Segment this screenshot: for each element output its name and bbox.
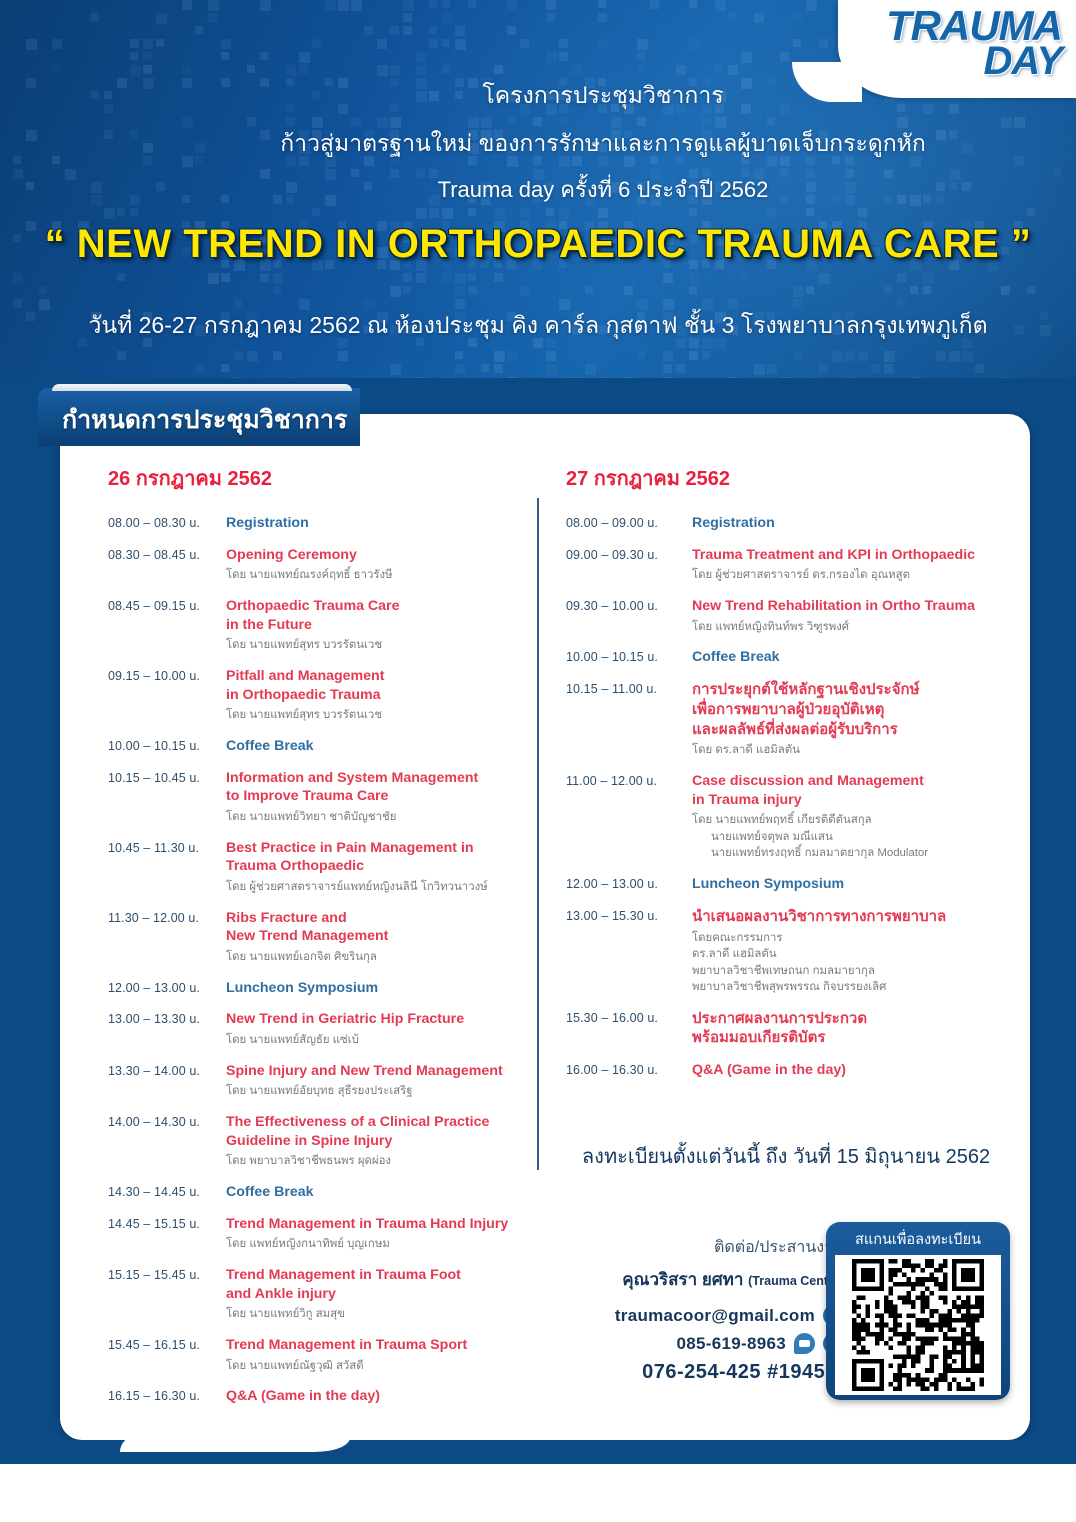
speaker-line: โดย นายแพทย์ณรงค์ฤทธิ์ ธาวรังษี [226, 567, 528, 584]
schedule-topic: Ribs Fracture andNew Trend Management [226, 909, 528, 946]
schedule-time: 09.30 – 10.00 u. [566, 597, 692, 635]
schedule-detail: Case discussion and Managementin Trauma … [692, 772, 1006, 862]
schedule-topic: Trend Management in Trauma Hand Injury [226, 1215, 528, 1234]
schedule-time: 10.45 – 11.30 u. [108, 839, 226, 896]
contact-email-row[interactable]: traumacoor@gmail.com [596, 1305, 844, 1326]
schedule-speaker: โดย นายแพทย์สัญธัย แซ่เบ้ [226, 1032, 528, 1049]
schedule-topic: Registration [692, 514, 1006, 533]
contact-block: ติดต่อ/ประสานงาน คุณวริสรา ยศทา (Trauma … [596, 1235, 844, 1384]
schedule-detail: การประยุกต์ใช้หลักฐานเชิงประจักษ์เพื่อกา… [692, 680, 1006, 759]
schedule-time: 09.15 – 10.00 u. [108, 667, 226, 724]
schedule-detail: Opening Ceremonyโดย นายแพทย์ณรงค์ฤทธิ์ ธ… [226, 546, 528, 584]
schedule-speaker: โดย นายแพทย์อัยบุทธ สุธีรยงประเสริฐ [226, 1083, 528, 1100]
schedule-time: 15.30 – 16.00 u. [566, 1009, 692, 1049]
speaker-line: โดย นายแพทย์อัยบุทธ สุธีรยงประเสริฐ [226, 1083, 528, 1100]
schedule-time: 10.00 – 10.15 u. [108, 737, 226, 756]
schedule-speaker: โดย นายแพทย์เอกจิต ศิขรินกุล [226, 949, 528, 966]
schedule-column-day2: 27 กรกฎาคม 2562 08.00 – 09.00 u.Registra… [566, 462, 1006, 1093]
schedule-speaker: โดย นายแพทย์พฤทธิ์ เกียรติดีตันสกุล นายแ… [692, 812, 1006, 862]
schedule-row: 14.00 – 14.30 u.The Effectiveness of a C… [108, 1113, 528, 1170]
schedule-topic: นำเสนอผลงานวิชาการทางการพยาบาล [692, 907, 1006, 927]
qr-registration-box[interactable]: สแกนเพื่อลงทะเบียน [826, 1222, 1010, 1400]
schedule-speaker: โดย แพทย์หญิงกนาทิพย์ บุญเกษม [226, 1236, 528, 1253]
schedule-row: 10.00 – 10.15 u.Coffee Break [108, 737, 528, 756]
schedule-topic: New Trend in Geriatric Hip Fracture [226, 1010, 528, 1029]
schedule-row: 13.00 – 15.30 u.นำเสนอผลงานวิชาการทางการ… [566, 907, 1006, 996]
schedule-speaker: โดย นายแพทย์วิกู สมสุข [226, 1306, 528, 1323]
speaker-line: โดย ผู้ช่วยศาสตราจารย์แพทย์หญิงนลินี โกว… [226, 879, 528, 896]
schedule-speaker: โดย นายแพทย์ณรงค์ฤทธิ์ ธาวรังษี [226, 567, 528, 584]
schedule-topic: Q&A (Game in the day) [692, 1061, 1006, 1080]
qr-caption: สแกนเพื่อลงทะเบียน [835, 1228, 1001, 1251]
schedule-topic: Coffee Break [692, 648, 1006, 667]
speaker-line: โดย นายแพทย์ณัฐวุฒิ สวัสดี [226, 1358, 528, 1375]
schedule-speaker: โดย ดร.ลาดี แฮมิลตัน [692, 742, 1006, 759]
speaker-line: โดย ดร.ลาดี แฮมิลตัน [692, 742, 1006, 759]
column-divider [537, 498, 539, 1170]
schedule-topic: Trend Management in Trauma Sport [226, 1336, 528, 1355]
speaker-line: โดย แพทย์หญิงทินท์พร วิฑูรพงศ์ [692, 619, 1006, 636]
day2-date-heading: 27 กรกฎาคม 2562 [566, 462, 1006, 494]
schedule-topic: การประยุกต์ใช้หลักฐานเชิงประจักษ์เพื่อกา… [692, 680, 1006, 739]
schedule-row: 09.15 – 10.00 u.Pitfall and Managementin… [108, 667, 528, 724]
schedule-time: 10.15 – 10.45 u. [108, 769, 226, 826]
contact-phone-row[interactable]: 085-619-8963 [596, 1333, 844, 1354]
schedule-topic: Best Practice in Pain Management inTraum… [226, 839, 528, 876]
schedule-topic: Luncheon Symposium [226, 979, 528, 998]
schedule-speaker: โดย แพทย์หญิงทินท์พร วิฑูรพงศ์ [692, 619, 1006, 636]
schedule-topic: ประกาศผลงานการประกวดพร้อมมอบเกียรติบัตร [692, 1009, 1006, 1049]
speaker-line: โดย นายแพทย์สัญธัย แซ่เบ้ [226, 1032, 528, 1049]
qr-code-image[interactable] [835, 1255, 1001, 1395]
schedule-row: 10.15 – 10.45 u.Information and System M… [108, 769, 528, 826]
schedule-ribbon-label: กำหนดการประชุมวิชาการ [62, 400, 347, 440]
speaker-line: นายแพทย์จตุพล มณีแสน [692, 829, 1006, 846]
schedule-speaker: โดยคณะกรรมการดร.ลาดี แฮมิลตันพยาบาลวิชาช… [692, 930, 1006, 996]
speaker-line: โดย ผู้ช่วยศาสตราจารย์ ดร.กรองได อุณหสูต [692, 567, 1006, 584]
schedule-detail: Coffee Break [226, 1183, 528, 1202]
schedule-time: 08.00 – 09.00 u. [566, 514, 692, 533]
schedule-row: 10.15 – 11.00 u.การประยุกต์ใช้หลักฐานเชิ… [566, 680, 1006, 759]
schedule-topic: Spine Injury and New Trend Management [226, 1062, 528, 1081]
contact-phone-1[interactable]: 085-619-8963 [677, 1334, 786, 1354]
contact-person-name: คุณวริสรา ยศทา [622, 1270, 743, 1289]
schedule-row: 16.00 – 16.30 u.Q&A (Game in the day) [566, 1061, 1006, 1080]
header-subtitle-3: Trauma day ครั้งที่ 6 ประจำปี 2562 [130, 172, 1076, 207]
day1-rows: 08.00 – 08.30 u.Registration08.30 – 08.4… [108, 514, 528, 1406]
schedule-topic: Trauma Treatment and KPI in Orthopaedic [692, 546, 1006, 565]
poster-header: TRAUMA DAY โครงการประชุมวิชาการ ก้าวสู่ม… [0, 0, 1076, 378]
schedule-topic: Coffee Break [226, 1183, 528, 1202]
schedule-detail: Best Practice in Pain Management inTraum… [226, 839, 528, 896]
schedule-topic: Coffee Break [226, 737, 528, 756]
schedule-row: 15.45 – 16.15 u.Trend Management in Trau… [108, 1336, 528, 1374]
schedule-detail: Ribs Fracture andNew Trend Managementโดย… [226, 909, 528, 966]
schedule-time: 14.30 – 14.45 u. [108, 1183, 226, 1202]
schedule-topic: Q&A (Game in the day) [226, 1387, 528, 1406]
schedule-time: 13.30 – 14.00 u. [108, 1062, 226, 1100]
day2-rows: 08.00 – 09.00 u.Registration09.00 – 09.3… [566, 514, 1006, 1080]
schedule-row: 10.45 – 11.30 u.Best Practice in Pain Ma… [108, 839, 528, 896]
contact-phone-2[interactable]: 076-254-425 #1945-6 [596, 1361, 844, 1384]
page-title: “ NEW TREND IN ORTHOPAEDIC TRAUMA CARE ” [0, 222, 1076, 267]
schedule-detail: Orthopaedic Trauma Carein the Futureโดย … [226, 597, 528, 654]
schedule-topic: Orthopaedic Trauma Carein the Future [226, 597, 528, 634]
schedule-speaker: โดย ผู้ช่วยศาสตราจารย์แพทย์หญิงนลินี โกว… [226, 879, 528, 896]
schedule-row: 09.30 – 10.00 u.New Trend Rehabilitation… [566, 597, 1006, 635]
schedule-row: 14.45 – 15.15 u.Trend Management in Trau… [108, 1215, 528, 1253]
schedule-detail: นำเสนอผลงานวิชาการทางการพยาบาลโดยคณะกรรม… [692, 907, 1006, 996]
schedule-time: 11.00 – 12.00 u. [566, 772, 692, 862]
speaker-line: ดร.ลาดี แฮมิลตัน [692, 946, 1006, 963]
schedule-column-day1: 26 กรกฎาคม 2562 08.00 – 08.30 u.Registra… [108, 462, 528, 1419]
header-subtitle-2: ก้าวสู่มาตรฐานใหม่ ของการรักษาและการดูแล… [130, 126, 1076, 162]
schedule-row: 08.00 – 08.30 u.Registration [108, 514, 528, 533]
speaker-line: โดย นายแพทย์วิกู สมสุข [226, 1306, 528, 1323]
schedule-speaker: โดย พยาบาลวิชาชีพธนพร ผุดผ่อง [226, 1153, 528, 1170]
schedule-row: 15.30 – 16.00 u.ประกาศผลงานการประกวดพร้อ… [566, 1009, 1006, 1049]
schedule-row: 14.30 – 14.45 u.Coffee Break [108, 1183, 528, 1202]
speaker-line: โดย นายแพทย์สุทร บวรรัตนเวช [226, 707, 528, 724]
schedule-row: 15.15 – 15.45 u.Trend Management in Trau… [108, 1266, 528, 1323]
registration-deadline-note: ลงทะเบียนตั้งแต่วันนี้ ถึง วันที่ 15 มิถ… [566, 1140, 1006, 1172]
schedule-topic: Registration [226, 514, 528, 533]
schedule-time: 16.15 – 16.30 u. [108, 1387, 226, 1406]
schedule-detail: Trend Management in Trauma Footand Ankle… [226, 1266, 528, 1323]
schedule-row: 08.45 – 09.15 u.Orthopaedic Trauma Carei… [108, 597, 528, 654]
schedule-row: 11.00 – 12.00 u.Case discussion and Mana… [566, 772, 1006, 862]
schedule-row: 12.00 – 13.00 u.Luncheon Symposium [108, 979, 528, 998]
schedule-detail: Luncheon Symposium [692, 875, 1006, 894]
schedule-detail: Q&A (Game in the day) [692, 1061, 1006, 1080]
speaker-line: โดย นายแพทย์สุทร บวรรัตนเวช [226, 637, 528, 654]
schedule-topic: Luncheon Symposium [692, 875, 1006, 894]
schedule-time: 14.45 – 15.15 u. [108, 1215, 226, 1253]
schedule-row: 08.00 – 09.00 u.Registration [566, 514, 1006, 533]
schedule-time: 08.00 – 08.30 u. [108, 514, 226, 533]
schedule-speaker: โดย นายแพทย์ณัฐวุฒิ สวัสดี [226, 1358, 528, 1375]
schedule-detail: Trauma Treatment and KPI in Orthopaedicโ… [692, 546, 1006, 584]
line-icon [794, 1333, 815, 1354]
schedule-detail: New Trend Rehabilitation in Ortho Trauma… [692, 597, 1006, 635]
footer-swoosh-decor [120, 1436, 350, 1452]
speaker-line: พยาบาลวิชาชีพสุพรพรรณ กิจบรรยงเลิศ [692, 979, 1006, 996]
schedule-topic: Information and System Managementto Impr… [226, 769, 528, 806]
schedule-row: 08.30 – 08.45 u.Opening Ceremonyโดย นายแ… [108, 546, 528, 584]
speaker-line: โดย นายแพทย์พฤทธิ์ เกียรติดีตันสกุล [692, 812, 1006, 829]
contact-heading: ติดต่อ/ประสานงาน [596, 1235, 844, 1260]
schedule-topic: The Effectiveness of a Clinical Practice… [226, 1113, 528, 1150]
schedule-row: 10.00 – 10.15 u.Coffee Break [566, 648, 1006, 667]
header-subtitle-1: โครงการประชุมวิชาการ [130, 78, 1076, 114]
schedule-topic: New Trend Rehabilitation in Ortho Trauma [692, 597, 1006, 616]
schedule-detail: Coffee Break [226, 737, 528, 756]
schedule-time: 11.30 – 12.00 u. [108, 909, 226, 966]
schedule-time: 09.00 – 09.30 u. [566, 546, 692, 584]
ribbon-highlight-decor [52, 384, 352, 391]
schedule-speaker: โดย นายแพทย์วิทยา ชาติบัญชาชัย [226, 809, 528, 826]
schedule-detail: Information and System Managementto Impr… [226, 769, 528, 826]
schedule-detail: The Effectiveness of a Clinical Practice… [226, 1113, 528, 1170]
schedule-row: 13.30 – 14.00 u.Spine Injury and New Tre… [108, 1062, 528, 1100]
schedule-speaker: โดย ผู้ช่วยศาสตราจารย์ ดร.กรองได อุณหสูต [692, 567, 1006, 584]
schedule-detail: Trend Management in Trauma Hand Injuryโด… [226, 1215, 528, 1253]
schedule-time: 12.00 – 13.00 u. [566, 875, 692, 894]
schedule-time: 13.00 – 13.30 u. [108, 1010, 226, 1048]
header-date-venue: วันที่ 26-27 กรกฎาคม 2562 ณ ห้องประชุม ค… [0, 308, 1076, 344]
speaker-line: พยาบาลวิชาชีพเทษถนก กมลมายากุล [692, 963, 1006, 980]
schedule-speaker: โดย นายแพทย์สุทร บวรรัตนเวช [226, 707, 528, 724]
schedule-detail: Registration [692, 514, 1006, 533]
schedule-row: 12.00 – 13.00 u.Luncheon Symposium [566, 875, 1006, 894]
schedule-detail: Coffee Break [692, 648, 1006, 667]
schedule-time: 13.00 – 15.30 u. [566, 907, 692, 996]
schedule-time: 10.15 – 11.00 u. [566, 680, 692, 759]
schedule-time: 15.15 – 15.45 u. [108, 1266, 226, 1323]
schedule-speaker: โดย นายแพทย์สุทร บวรรัตนเวช [226, 637, 528, 654]
schedule-detail: Luncheon Symposium [226, 979, 528, 998]
schedule-time: 10.00 – 10.15 u. [566, 648, 692, 667]
schedule-topic: Trend Management in Trauma Footand Ankle… [226, 1266, 528, 1303]
poster-root: TRAUMA DAY โครงการประชุมวิชาการ ก้าวสู่ม… [0, 0, 1076, 1522]
speaker-line: โดยคณะกรรมการ [692, 930, 1006, 947]
schedule-row: 11.30 – 12.00 u.Ribs Fracture andNew Tre… [108, 909, 528, 966]
schedule-detail: Q&A (Game in the day) [226, 1387, 528, 1406]
contact-email[interactable]: traumacoor@gmail.com [615, 1306, 815, 1326]
schedule-time: 16.00 – 16.30 u. [566, 1061, 692, 1080]
speaker-line: โดย นายแพทย์วิทยา ชาติบัญชาชัย [226, 809, 528, 826]
schedule-detail: New Trend in Geriatric Hip Fractureโดย น… [226, 1010, 528, 1048]
schedule-row: 13.00 – 13.30 u.New Trend in Geriatric H… [108, 1010, 528, 1048]
speaker-line: นายแพทย์ทรงฤทธิ์ กมลมาตยากุล Modulator [692, 845, 1006, 862]
schedule-topic: Case discussion and Managementin Trauma … [692, 772, 1006, 809]
schedule-detail: Spine Injury and New Trend Managementโดย… [226, 1062, 528, 1100]
schedule-time: 14.00 – 14.30 u. [108, 1113, 226, 1170]
schedule-time: 15.45 – 16.15 u. [108, 1336, 226, 1374]
schedule-detail: Trend Management in Trauma Sportโดย นายแ… [226, 1336, 528, 1374]
trauma-day-logo: TRAUMA DAY [852, 6, 1062, 81]
qr-code-svg [839, 1259, 997, 1391]
schedule-detail: Registration [226, 514, 528, 533]
speaker-line: โดย พยาบาลวิชาชีพธนพร ผุดผ่อง [226, 1153, 528, 1170]
schedule-detail: Pitfall and Managementin Orthopaedic Tra… [226, 667, 528, 724]
schedule-time: 08.45 – 09.15 u. [108, 597, 226, 654]
schedule-time: 12.00 – 13.00 u. [108, 979, 226, 998]
poster-footer: โรงพยาบาลกรุงเทพ BANGKOK HOSPITAL ภูเก็ต… [0, 1464, 1076, 1522]
schedule-row: 09.00 – 09.30 u.Trauma Treatment and KPI… [566, 546, 1006, 584]
speaker-line: โดย แพทย์หญิงกนาทิพย์ บุญเกษม [226, 1236, 528, 1253]
schedule-row: 16.15 – 16.30 u.Q&A (Game in the day) [108, 1387, 528, 1406]
contact-person: คุณวริสรา ยศทา (Trauma Center) [596, 1266, 844, 1293]
speaker-line: โดย นายแพทย์เอกจิต ศิขรินกุล [226, 949, 528, 966]
schedule-topic: Pitfall and Managementin Orthopaedic Tra… [226, 667, 528, 704]
schedule-time: 08.30 – 08.45 u. [108, 546, 226, 584]
schedule-detail: ประกาศผลงานการประกวดพร้อมมอบเกียรติบัตร [692, 1009, 1006, 1049]
schedule-topic: Opening Ceremony [226, 546, 528, 565]
day1-date-heading: 26 กรกฎาคม 2562 [108, 462, 528, 494]
